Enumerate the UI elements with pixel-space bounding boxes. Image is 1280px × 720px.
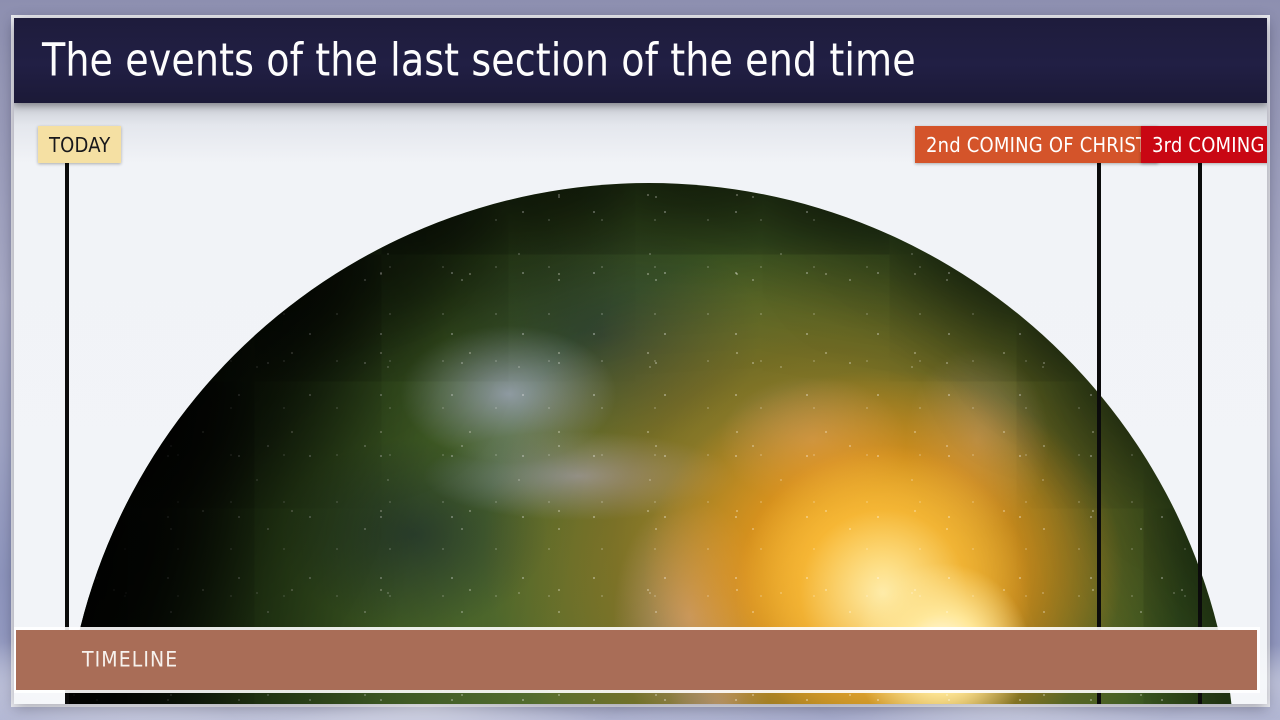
marker-line-2nd-coming — [1097, 163, 1101, 704]
marker-badge-2nd-coming-label: 2nd COMING OF CHRIST — [926, 133, 1147, 157]
marker-badge-3rd-coming[interactable]: 3rd COMING — [1141, 126, 1267, 163]
marker-badge-2nd-coming[interactable]: 2nd COMING OF CHRIST — [915, 126, 1158, 163]
marker-line-today — [65, 163, 69, 704]
presentation-background: The events of the last section of the en… — [0, 0, 1280, 720]
globe-sphere — [63, 183, 1235, 704]
globe-rim-shading — [63, 183, 1235, 704]
slide: The events of the last section of the en… — [14, 18, 1267, 704]
timeline-band[interactable]: TIMELINE — [16, 630, 1257, 690]
page-title: The events of the last section of the en… — [42, 33, 916, 86]
slide-canvas: TODAY 2nd COMING OF CHRIST 3rd COMING TI… — [14, 103, 1267, 704]
marker-line-3rd-coming — [1198, 163, 1202, 704]
marker-badge-today[interactable]: TODAY — [38, 126, 121, 163]
marker-badge-today-label: TODAY — [49, 133, 110, 157]
globe-terminator-shadow — [63, 183, 1235, 704]
slide-title-bar: The events of the last section of the en… — [14, 18, 1267, 103]
globe-speckle-layer-1 — [63, 183, 1235, 704]
timeline-label: TIMELINE — [82, 648, 178, 672]
globe-speckle-layer-2 — [63, 183, 1235, 704]
marker-badge-3rd-coming-label: 3rd COMING — [1152, 133, 1265, 157]
earth-globe-illustration — [14, 103, 1267, 704]
